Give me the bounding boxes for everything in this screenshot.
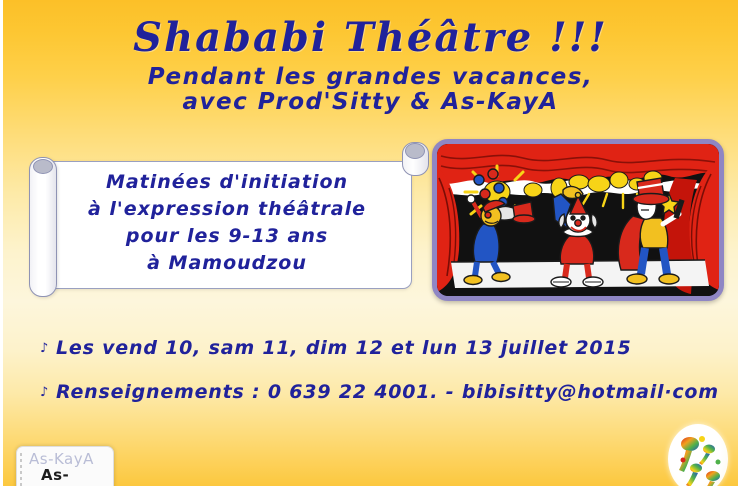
confetti-icon: [668, 424, 728, 486]
scroll-text-line-1: Matinées d'initiation: [44, 169, 410, 196]
as-kaya-logo-card: As-KayA As-KayA: [16, 446, 114, 486]
as-kaya-logo-text: As-KayA: [41, 466, 113, 486]
bullet-icon: ♪: [40, 385, 56, 400]
contact-line: ♪Renseignements : 0 639 22 4001. - bibis…: [40, 381, 719, 403]
poster-subtitle-line-1: Pendant les grandes vacances,: [0, 64, 741, 90]
scroll-text-line-3: pour les 9-13 ans: [44, 223, 410, 250]
bullet-icon: ♪: [40, 341, 56, 356]
poster-subtitle-line-2: avec Prod'Sitty & As-KayA: [0, 89, 741, 115]
parchment-scroll: Matinées d'initiation à l'expression thé…: [22, 155, 422, 295]
theatre-mural-photo: [432, 139, 724, 301]
dates-line: ♪Les vend 10, sam 11, dim 12 et lun 13 j…: [40, 337, 631, 359]
scroll-roll-right-cap-icon: [405, 143, 425, 159]
scroll-text-line-2: à l'expression théâtrale: [44, 196, 410, 223]
poster-title: Shababi Théâtre !!!: [0, 14, 741, 61]
scroll-text-block: Matinées d'initiation à l'expression thé…: [44, 169, 410, 277]
logo-dotted-rule: [20, 453, 22, 486]
mural-illustration: [437, 144, 719, 296]
poster-canvas: Shababi Théâtre !!! Pendant les grandes …: [0, 0, 741, 486]
confetti-badge: [668, 424, 728, 486]
dates-text: Les vend 10, sam 11, dim 12 et lun 13 ju…: [56, 337, 631, 359]
scroll-text-line-4: à Mamoudzou: [44, 250, 410, 277]
contact-text: Renseignements : 0 639 22 4001. - bibisi…: [56, 381, 719, 403]
